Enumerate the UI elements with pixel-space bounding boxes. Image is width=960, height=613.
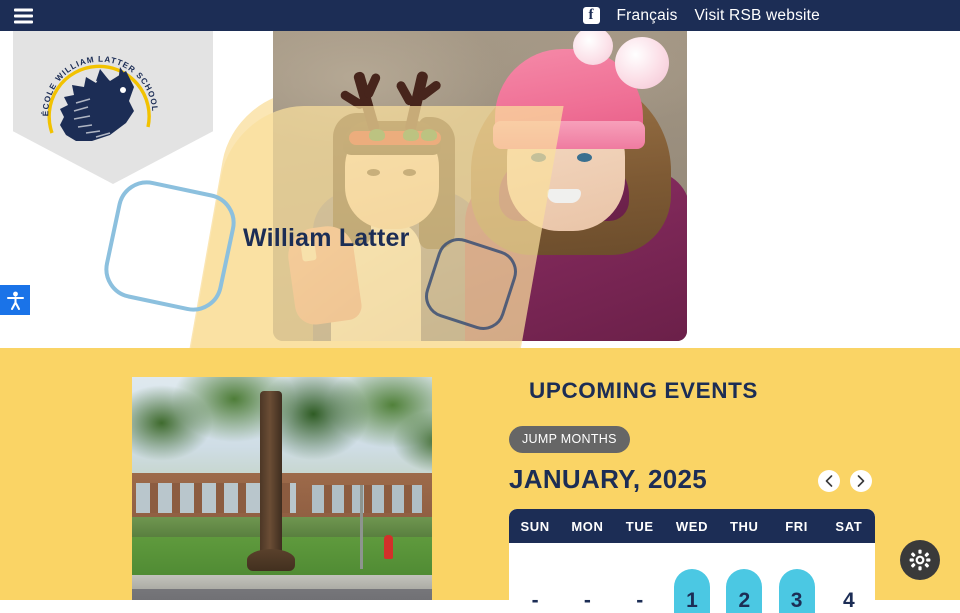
jump-months-button[interactable]: JUMP MONTHS — [509, 426, 630, 453]
chevron-right-icon[interactable] — [850, 470, 872, 492]
hero-section: ÉCOLE WILLIAM LATTER SCHOOL William Latt… — [0, 31, 960, 348]
calendar-weekday-wed: WED — [666, 509, 718, 543]
holly-decoration — [369, 129, 385, 141]
school-building-photo — [132, 377, 432, 600]
calendar-weekday-header: SUN MON TUE WED THU FRI SAT — [509, 509, 875, 543]
child-left-eye — [403, 169, 416, 176]
events-calendar: SUN MON TUE WED THU FRI SAT - - - 1 2 3 … — [509, 509, 875, 613]
child-right-eye — [577, 153, 592, 162]
calendar-day-cell[interactable]: 1 — [666, 565, 718, 613]
section-title-upcoming-events: UPCOMING EVENTS — [529, 378, 758, 404]
visit-rsb-website-link[interactable]: Visit RSB website — [695, 7, 820, 25]
calendar-day-cell[interactable]: 3 — [770, 565, 822, 613]
top-nav-links: Français Visit RSB website — [583, 0, 821, 31]
child-right-eye — [531, 153, 546, 162]
hamburger-bar — [14, 20, 33, 23]
facebook-icon[interactable] — [583, 7, 600, 24]
child-right-smile — [547, 189, 581, 203]
calendar-weekday-thu: THU — [718, 509, 770, 543]
calendar-day-cell[interactable]: - — [561, 565, 613, 613]
calendar-month-label: JANUARY, 2025 — [509, 464, 707, 495]
page-title: William Latter — [243, 224, 410, 253]
calendar-weekday-mon: MON — [561, 509, 613, 543]
gear-icon[interactable] — [900, 540, 940, 580]
wolf-head-logo-icon[interactable]: ÉCOLE WILLIAM LATTER SCHOOL — [30, 49, 170, 167]
photo-road — [132, 589, 432, 600]
calendar-day-grid: - - - 1 2 3 4 — [509, 543, 875, 613]
calendar-day-cell[interactable]: - — [509, 565, 561, 613]
calendar-day-cell[interactable]: 4 — [823, 565, 875, 613]
hamburger-bar — [14, 14, 33, 17]
calendar-day-cell[interactable]: - — [614, 565, 666, 613]
photo-tree-trunk — [260, 391, 282, 567]
calendar-weekday-sat: SAT — [823, 509, 875, 543]
accessibility-person-icon[interactable] — [0, 285, 30, 315]
pink-hat-brim — [493, 121, 645, 149]
hamburger-bar — [14, 8, 33, 11]
calendar-weekday-fri: FRI — [770, 509, 822, 543]
photo-tree-canopy — [132, 377, 432, 513]
child-left-eye — [367, 169, 380, 176]
calendar-weekday-sun: SUN — [509, 509, 561, 543]
photo-fire-hydrant — [384, 535, 393, 559]
holly-decoration — [421, 129, 437, 141]
top-navigation-bar: Français Visit RSB website — [0, 0, 960, 31]
language-link-francais[interactable]: Français — [617, 7, 678, 25]
calendar-weekday-tue: TUE — [614, 509, 666, 543]
holly-decoration — [403, 129, 419, 141]
hat-pompom — [615, 37, 669, 89]
calendar-day-cell[interactable]: 2 — [718, 565, 770, 613]
hamburger-menu-icon[interactable] — [14, 8, 33, 23]
chevron-left-icon[interactable] — [818, 470, 840, 492]
